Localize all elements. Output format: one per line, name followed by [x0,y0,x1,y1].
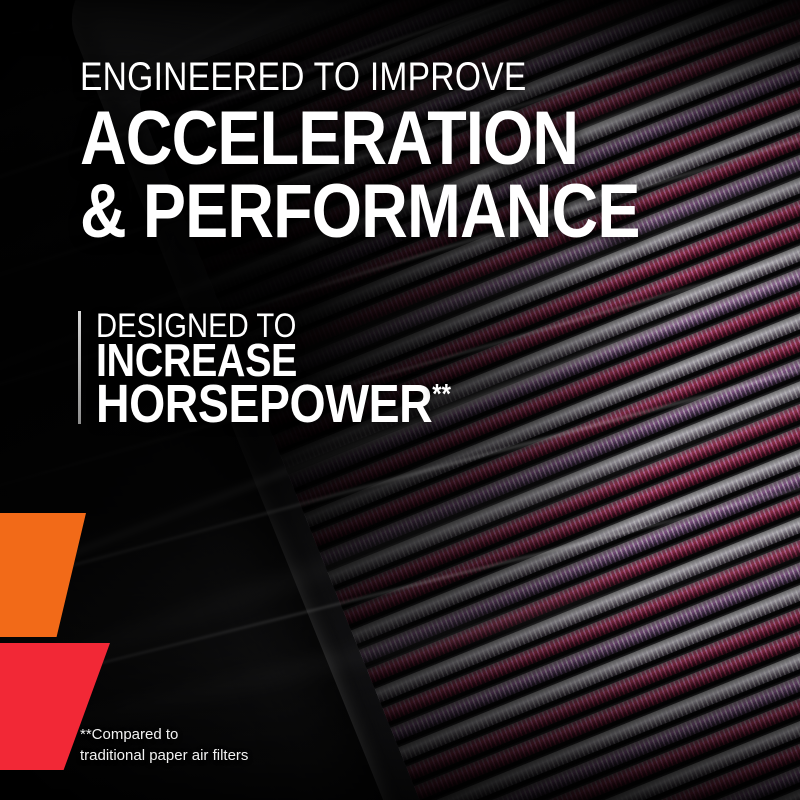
footnote-text: **Compared to traditional paper air filt… [80,724,248,767]
eyebrow-text: ENGINEERED TO IMPROVE [80,57,527,97]
headline: ACCELERATION & PERFORMANCE [80,103,640,249]
sub-headline-line-2-text: HORSEPOWER [96,374,432,434]
sub-headline-line-2: HORSEPOWER** [96,377,451,431]
headline-line-2: & PERFORMANCE [80,176,640,249]
footnote-marker: ** [432,378,451,409]
promo-banner: ENGINEERED TO IMPROVE ACCELERATION & PER… [0,0,800,800]
vertical-rule-divider [78,311,81,424]
